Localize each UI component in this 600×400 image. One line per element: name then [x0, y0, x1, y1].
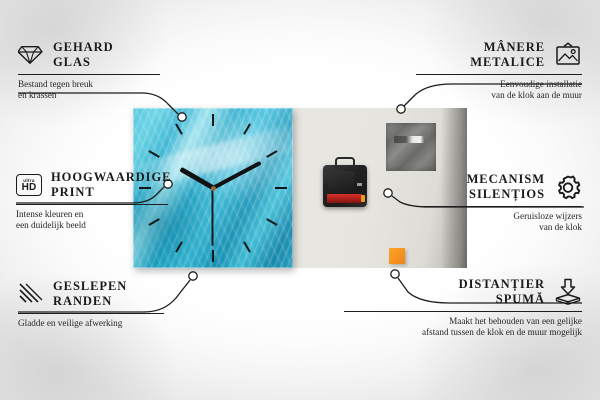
callout-distantier-spuma[interactable]: DISTANȚIER SPUMĂ Maakt het behouden van … — [344, 277, 582, 339]
clock-tick — [275, 187, 287, 189]
clock-center-cap — [211, 186, 216, 191]
callout-geslepen-randen[interactable]: GESLEPEN RANDEN Gladde en veilige afwerk… — [18, 279, 164, 329]
gear-icon — [554, 174, 582, 201]
callout-rule — [420, 206, 582, 207]
clock-tick — [212, 114, 214, 126]
callout-desc: Eenvoudige installatie van de klok aan d… — [416, 79, 582, 102]
ultra-hd-main-label: HD — [22, 183, 37, 193]
callout-desc: Bestand tegen breuk en krassen — [18, 79, 160, 102]
callout-rule — [18, 74, 160, 75]
movement-panel — [328, 171, 354, 189]
spacer-press-icon — [554, 278, 582, 306]
callout-rule — [344, 311, 582, 312]
callout-desc: Gladde en veilige afwerking — [18, 318, 164, 329]
callout-title: HOOGWAARDIGE PRINT — [51, 170, 171, 200]
callout-gehard-glas[interactable]: GEHARD GLAS Bestand tegen breuk en krass… — [18, 40, 160, 102]
callout-title: MECANISM SILENȚIOS — [467, 172, 545, 202]
ultra-hd-icon: ultra HD — [16, 174, 42, 196]
callout-desc: Geruisloze wijzers van de klok — [420, 211, 582, 234]
connector-dot-geslepen-randen — [189, 272, 197, 280]
metal-hanger-plate — [386, 123, 436, 171]
battery — [327, 194, 362, 203]
callout-rule — [416, 74, 582, 75]
quartz-movement — [323, 165, 367, 207]
callout-title: MÂNERE METALICE — [470, 40, 545, 70]
callout-rule — [18, 313, 164, 314]
movement-hook — [335, 157, 355, 169]
callout-manere-metalice[interactable]: MÂNERE METALICE Eenvoudige installatie v… — [416, 40, 582, 102]
beveled-edges-icon — [18, 282, 44, 306]
product-photo — [133, 108, 467, 268]
orange-foam-spacer — [389, 248, 405, 264]
callout-mecanism-silentios[interactable]: MECANISM SILENȚIOS Geruisloze wijzers va… — [420, 172, 582, 234]
diamond-icon — [18, 43, 44, 67]
callout-title: GESLEPEN RANDEN — [53, 279, 127, 309]
callout-rule — [16, 204, 168, 205]
infographic-canvas: GEHARD GLAS Bestand tegen breuk en krass… — [0, 0, 600, 400]
callout-title: GEHARD GLAS — [53, 40, 114, 70]
picture-hanger-icon — [554, 42, 582, 68]
callout-desc: Maakt het behouden van een gelijke afsta… — [344, 316, 582, 339]
movement-dot — [357, 183, 362, 186]
callout-hoogwaardige-print[interactable]: ultra HD HOOGWAARDIGE PRINT Intense kleu… — [16, 170, 168, 232]
clock-tick — [212, 250, 214, 262]
callout-title: DISTANȚIER SPUMĂ — [459, 277, 545, 307]
callout-desc: Intense kleuren en een duidelijk beeld — [16, 209, 168, 232]
